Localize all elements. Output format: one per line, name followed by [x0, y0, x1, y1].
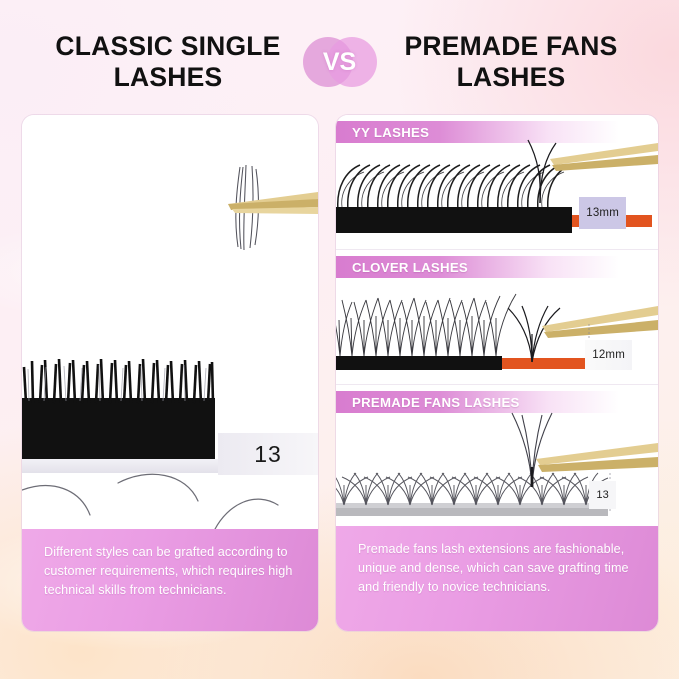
- length-tag-yy: 13mm: [579, 197, 626, 229]
- yy-fan-icon: [528, 140, 556, 203]
- comparison-header: CLASSIC SINGLE LASHES VS PREMADE FANS LA…: [0, 22, 679, 102]
- right-caption: Premade fans lash extensions are fashion…: [336, 526, 658, 631]
- section-clover-lashes: CLOVER LASHES: [336, 250, 658, 385]
- left-panel-artwork: 13: [22, 115, 318, 529]
- tweezers-gold-icon: [550, 143, 658, 171]
- yy-lashes-illustration: [336, 115, 658, 250]
- individual-curved-lashes-icon: [22, 474, 310, 529]
- fan-base-stem: [531, 467, 534, 487]
- tweezers-gold-icon: [536, 443, 658, 472]
- premade-fans-lashes-panel: YY LASHES: [336, 115, 658, 631]
- classic-lash-strip-icon: [22, 359, 215, 465]
- length-tag-premade: 13: [589, 481, 616, 509]
- premade-fan-row-icon: [336, 473, 608, 505]
- classic-single-lashes-panel: 13 Different styles can be grafted accor…: [22, 115, 318, 631]
- vs-label: VS: [303, 36, 377, 88]
- length-badge-left-value: 13: [254, 441, 282, 468]
- length-tag-clover: 12mm: [585, 340, 632, 370]
- left-caption: Different styles can be grafted accordin…: [22, 529, 318, 631]
- section-premade-fans-lashes: PREMADE FANS LASHES: [336, 385, 658, 526]
- tweezers-gold-icon: [228, 192, 318, 214]
- left-title: CLASSIC SINGLE LASHES: [36, 31, 301, 93]
- vs-badge: VS: [303, 36, 377, 88]
- tweezers-gold-icon: [542, 306, 658, 338]
- length-badge-left: 13: [218, 433, 318, 475]
- section-yy-lashes: YY LASHES: [336, 115, 658, 250]
- right-title: PREMADE FANS LASHES: [379, 31, 644, 93]
- right-panel-artwork: YY LASHES: [336, 115, 658, 526]
